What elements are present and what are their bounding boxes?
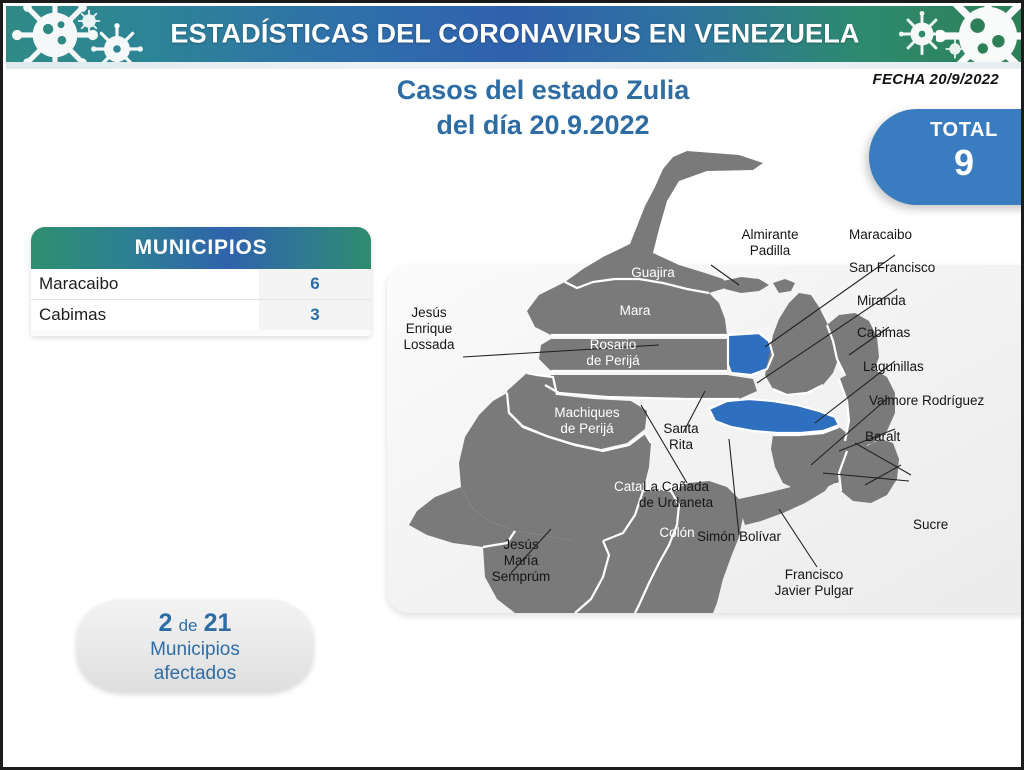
lacanada-l1: La Cañada: [643, 479, 709, 494]
region-almirante-padilla-islet: [773, 279, 795, 293]
map-label-rosario: Rosario de Perijá: [563, 337, 663, 369]
map-label-maracaibo: Maracaibo: [849, 227, 912, 243]
map-label-cabimas: Cabimas: [857, 325, 910, 341]
map-label-san-francisco: San Francisco: [849, 260, 935, 276]
municipio-name: Maracaibo: [31, 269, 259, 299]
municipios-table-header: MUNICIPIOS: [31, 227, 371, 269]
map-label-jesus-maria-semprum: Jesús María Semprúm: [473, 537, 569, 585]
header-banner: ESTADÍSTICAS DEL CORONAVIRUS EN VENEZUEL…: [6, 6, 1024, 62]
banner-title: ESTADÍSTICAS DEL CORONAVIRUS EN VENEZUEL…: [6, 19, 1024, 50]
jel-l2: Enrique: [406, 321, 453, 336]
jel-l1: Jesús: [411, 305, 446, 320]
region-east-block-north: [765, 293, 839, 395]
total-label: TOTAL: [869, 119, 1024, 142]
fjp-l1: Francisco: [785, 567, 844, 582]
map-label-jesus-enrique-lossada: Jesús Enrique Lossada: [379, 305, 479, 353]
page-title-line2: del día 20.9.2022: [333, 108, 753, 143]
affected-count: 2: [159, 609, 173, 637]
map-label-baralt: Baralt: [865, 429, 900, 445]
map-label-sucre: Sucre: [913, 517, 948, 533]
map-label-santa-rita: Santa Rita: [641, 421, 721, 453]
fecha-label: FECHA 20/9/2022: [872, 71, 999, 88]
table-row: Maracaibo 6: [31, 269, 371, 300]
jms-l1: Jesús: [503, 537, 538, 552]
map-label-guajira: Guajira: [613, 265, 693, 281]
affected-municipalities-badge: 2 de 21 Municipios afectados: [77, 599, 313, 691]
lacanada-l2: de Urdaneta: [639, 495, 713, 510]
banner-bottom-strip: [6, 62, 1024, 69]
almirante-l2: Padilla: [750, 243, 791, 258]
map-label-machiques: Machiques de Perijá: [527, 405, 647, 437]
map-label-valmore-rodriguez: Valmore Rodríguez: [869, 393, 984, 409]
page-title: Casos del estado Zulia del día 20.9.2022: [333, 73, 753, 142]
map-label-simon-bolivar: Simón Bolívar: [697, 529, 781, 545]
municipio-name: Cabimas: [31, 300, 259, 330]
table-row: Cabimas 3: [31, 300, 371, 330]
jms-l3: Semprúm: [492, 569, 551, 584]
zulia-map: .g{fill:#7a7a7a;} .hl{fill:#2f6fc0;} .bd…: [387, 143, 1024, 613]
map-label-machiques-l1: Machiques: [554, 405, 619, 420]
map-label-francisco-javier-pulgar: Francisco Javier Pulgar: [753, 567, 875, 599]
municipio-value: 3: [259, 300, 371, 330]
map-label-la-canada-de-urdaneta: La Cañada de Urdaneta: [613, 479, 739, 511]
infographic-root: ESTADÍSTICAS DEL CORONAVIRUS EN VENEZUEL…: [0, 0, 1024, 770]
map-label-rosario-l2: de Perijá: [586, 353, 639, 368]
region-almirante-padilla: [723, 277, 769, 293]
affected-total: 21: [204, 609, 232, 637]
almirante-l1: Almirante: [741, 227, 798, 242]
map-label-almirante-padilla: Almirante Padilla: [715, 227, 825, 259]
affected-count-line: 2 de 21: [77, 609, 313, 638]
affected-label-1: Municipios: [77, 639, 313, 662]
affected-de: de: [179, 616, 198, 635]
municipio-value: 6: [259, 269, 371, 299]
map-label-mara: Mara: [595, 303, 675, 319]
region-cabimas-highlight: [709, 399, 839, 433]
map-label-miranda: Miranda: [857, 293, 906, 309]
page-title-line1: Casos del estado Zulia: [397, 75, 690, 105]
jel-l3: Lossada: [403, 337, 454, 352]
map-label-lagunillas: Lagunillas: [863, 359, 924, 375]
fjp-l2: Javier Pulgar: [775, 583, 854, 598]
jms-l2: María: [504, 553, 539, 568]
map-label-machiques-l2: de Perijá: [560, 421, 613, 436]
santarita-l2: Rita: [669, 437, 693, 452]
municipios-table: MUNICIPIOS Maracaibo 6 Cabimas 3: [31, 227, 371, 336]
santarita-l1: Santa: [663, 421, 698, 436]
map-label-rosario-l1: Rosario: [590, 337, 637, 352]
affected-label-2: afectados: [77, 663, 313, 686]
